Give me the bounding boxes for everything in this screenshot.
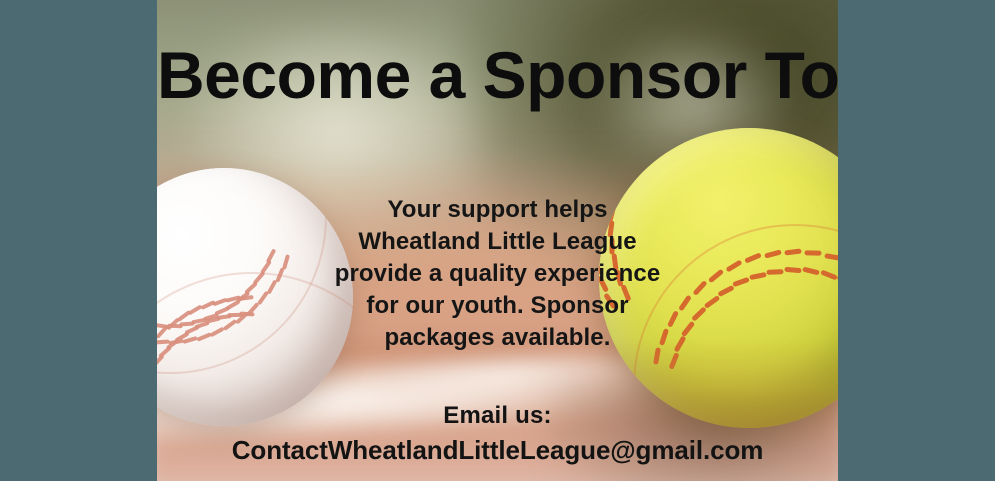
email-label: Email us: <box>157 400 838 432</box>
body-line: Your support helps <box>157 194 838 226</box>
letterbox-bar-left <box>0 0 157 481</box>
body-line: for our youth. Sponsor <box>157 290 838 322</box>
body-line: Wheatland Little League <box>157 226 838 258</box>
sponsor-flyer: Become a Sponsor Today! Your support hel… <box>0 0 995 481</box>
flyer-headline: Become a Sponsor Today! <box>157 42 838 108</box>
flyer-contact-block: Email us: ContactWheatlandLittleLeague@g… <box>157 400 838 468</box>
flyer-body-text: Your support helps Wheatland Little Leag… <box>157 194 838 354</box>
contact-email-address[interactable]: ContactWheatlandLittleLeague@gmail.com <box>157 432 838 468</box>
letterbox-bar-right <box>838 0 995 481</box>
body-line: packages available. <box>157 322 838 354</box>
flyer-text-layer: Become a Sponsor Today! Your support hel… <box>157 0 838 481</box>
body-line: provide a quality experience <box>157 258 838 290</box>
